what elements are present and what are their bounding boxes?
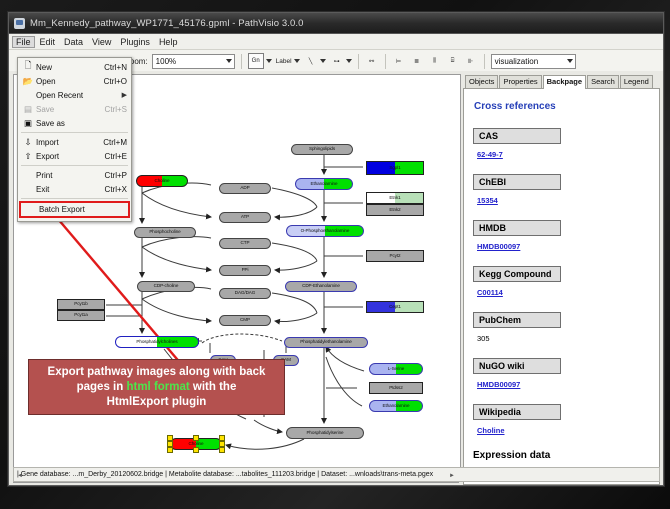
pathway-node-cept1[interactable]: Cept1 <box>366 301 424 313</box>
pathway-node-label: CDP-Ethanolamine <box>302 284 340 289</box>
file-menu-item-label: Save <box>36 105 105 114</box>
window-title: Mm_Kennedy_pathway_WP1771_45176.gpml - P… <box>30 18 304 29</box>
pathway-node-label: Choline <box>189 442 204 447</box>
cross-reference-row: Kegg CompoundC00114 <box>473 264 651 306</box>
toolbar-divider <box>385 54 386 69</box>
application-window: Mm_Kennedy_pathway_WP1771_45176.gpml - P… <box>8 12 664 486</box>
pathway-node-pcyt1a[interactable]: Pcyt1a <box>57 310 105 321</box>
label-tool-text: Label <box>276 58 292 65</box>
cross-reference-row: ChEBI15354 <box>473 172 651 214</box>
pathway-node-ethanolamine-top[interactable]: Ethanolamine <box>295 178 353 190</box>
menu-view[interactable]: View <box>88 36 115 48</box>
callout-line3: HtmlExport plugin <box>107 396 207 408</box>
menu-edit[interactable]: Edit <box>36 36 60 48</box>
pathway-node-phosphatidylserine[interactable]: Phosphatidylserine <box>286 427 364 439</box>
pathway-node-phosphatidylcholines[interactable]: Phosphatidylcholines <box>115 336 199 348</box>
file-menu-item-accelerator: Ctrl+O <box>104 77 131 86</box>
tab-backpage[interactable]: Backpage <box>543 75 586 89</box>
database-link[interactable]: C00114 <box>477 288 503 297</box>
menu-separator <box>21 165 128 166</box>
tab-legend[interactable]: Legend <box>620 75 653 88</box>
selection-handle[interactable] <box>219 447 225 453</box>
callout-line1: Export pathway images along with back <box>48 366 266 378</box>
side-panel-tabs: ObjectsPropertiesBackpageSearchLegend <box>463 74 660 88</box>
file-menu-item-accelerator: Ctrl+N <box>104 63 131 72</box>
callout-line2-pre: pages in <box>77 381 127 393</box>
pathvisio-icon <box>14 18 25 29</box>
database-link[interactable]: Choline <box>477 426 505 435</box>
callout-line2-post: with the <box>190 381 237 393</box>
pathway-node-pcyt1b[interactable]: Pcyt1b <box>57 299 105 310</box>
pathway-node-cdp-ethanolamine[interactable]: CDP-Ethanolamine <box>285 281 357 292</box>
cross-reference-row: NuGO wikiHMDB00097 <box>473 356 651 398</box>
pathway-node-label: Pcyt1a <box>74 313 87 318</box>
line-tool[interactable]: ╲ <box>304 54 326 68</box>
pathway-node-label: Phosphatidylethanolamine <box>300 340 352 345</box>
pathway-node-ptdss2[interactable]: Ptdss2 <box>369 382 423 394</box>
pathway-node-ethanolamine-bottom[interactable]: Ethanolamine <box>369 400 423 412</box>
datanode-tool[interactable]: Gn <box>248 53 272 69</box>
pathway-node-label: ATP <box>241 215 249 220</box>
file-menu-item-export[interactable]: ⇧ExportCtrl+E <box>18 149 131 163</box>
group-icon[interactable]: ⌸ <box>446 54 460 68</box>
pathway-node-label: Sphingolipids <box>309 147 335 152</box>
pathway-node-choline-top[interactable]: Choline <box>136 175 188 187</box>
cross-reference-row: CAS62-49-7 <box>473 126 651 168</box>
database-name: PubChem <box>473 312 561 328</box>
pathway-node-sphingolipids[interactable]: Sphingolipids <box>291 144 353 155</box>
database-link[interactable]: 62-49-7 <box>477 150 503 159</box>
file-menu-item-accelerator: Ctrl+M <box>103 138 131 147</box>
selection-handle[interactable] <box>167 447 173 453</box>
pathway-node-label: Etnk1 <box>389 196 400 201</box>
scroll-right-icon[interactable]: ► <box>446 473 458 479</box>
menu-separator <box>21 198 128 199</box>
title-bar: Mm_Kennedy_pathway_WP1771_45176.gpml - P… <box>9 13 663 34</box>
annotation-callout: Export pathway images along with back pa… <box>28 359 285 415</box>
selection-handle[interactable] <box>167 441 173 447</box>
file-menu-item-accelerator: Ctrl+X <box>105 185 131 194</box>
cross-references-heading: Cross references <box>474 101 651 112</box>
chevron-down-icon <box>567 59 573 63</box>
pathway-node-label: Ptdss2 <box>389 386 402 391</box>
pathway-node-sgpl1[interactable]: Sgpl1 <box>366 161 424 175</box>
chevron-down-icon <box>226 59 232 63</box>
callout-line2-highlight: html format <box>126 381 189 393</box>
selection-handle[interactable] <box>219 441 225 447</box>
pathway-node-label: ADP <box>240 186 249 191</box>
file-menu-item-accelerator: Ctrl+E <box>105 152 131 161</box>
menu-data[interactable]: Data <box>60 36 87 48</box>
pathway-node-label: Ethanolamine <box>311 182 338 187</box>
pathway-node-label: Pcyt2 <box>390 254 401 259</box>
selection-handle[interactable] <box>193 447 199 453</box>
pathway-node-label: Etnk2 <box>389 208 400 213</box>
menu-separator <box>21 132 128 133</box>
pathway-node-etnk1[interactable]: Etnk1 <box>366 192 424 204</box>
save-as-icon: ▣ <box>20 118 36 129</box>
file-menu-item-label: Import <box>36 138 103 147</box>
zoom-combo[interactable]: 100% <box>152 54 235 69</box>
pathway-node-label: DAG/DAG <box>235 291 256 296</box>
cross-reference-row: PubChem305 <box>473 310 651 352</box>
toolbar-divider <box>484 54 485 69</box>
menu-file[interactable]: File <box>12 36 35 48</box>
submenu-arrow-icon: ▶ <box>122 91 131 99</box>
database-link[interactable]: HMDB00097 <box>477 380 520 389</box>
side-panel: ObjectsPropertiesBackpageSearchLegend Cr… <box>461 71 663 485</box>
visualization-combo[interactable]: visualization <box>491 54 576 69</box>
database-name: ChEBI <box>473 174 561 190</box>
cross-reference-row: HMDBHMDB00097 <box>473 218 651 260</box>
file-menu-item-import[interactable]: ⇩ImportCtrl+M <box>18 135 131 149</box>
pathway-node-label: Pcyt1b <box>74 302 87 307</box>
visualization-value: visualization <box>495 57 539 66</box>
pathway-node-label: PPi <box>242 268 249 273</box>
gene-product-icon: Gn <box>248 53 264 69</box>
database-name: CAS <box>473 128 561 144</box>
file-menu-popup[interactable]: 🗋NewCtrl+N📂OpenCtrl+OOpen Recent▶▤SaveCt… <box>17 57 132 222</box>
toolbar-divider <box>358 54 359 69</box>
pathway-node-label: Phosphatidylcholines <box>136 340 177 345</box>
pathway-node-dagdag[interactable]: DAG/DAG <box>219 288 271 299</box>
pathway-node-ctp[interactable]: CTP <box>219 238 271 249</box>
pathway-node-label: CDP-choline <box>154 284 179 289</box>
pathway-node-atp[interactable]: ATP <box>219 212 271 223</box>
pathway-node-label: L-Serine <box>388 367 405 372</box>
file-menu-item-open[interactable]: 📂OpenCtrl+O <box>18 74 131 88</box>
chevron-down-icon[interactable] <box>346 59 352 63</box>
new-document-icon: 🗋 <box>20 60 36 74</box>
chevron-down-icon[interactable] <box>294 59 300 63</box>
toolbar-divider <box>241 54 242 69</box>
status-text: | Gene database: ...m_Derby_20120602.bri… <box>17 471 433 478</box>
pathway-node-cmp[interactable]: CMP <box>219 315 271 326</box>
file-menu-item-save-as[interactable]: ▣Save as <box>18 116 131 130</box>
save-disk-icon: ▤ <box>20 104 36 115</box>
file-menu-item-label: Exit <box>36 185 105 194</box>
pathway-node-label: Phosphatidylserine <box>306 431 343 436</box>
file-menu-item-label: Open Recent <box>36 91 122 100</box>
pathway-node-label: O-Phosphoethanolamine <box>301 229 350 234</box>
file-menu-item-open-recent[interactable]: Open Recent▶ <box>18 88 131 102</box>
export-icon: ⇧ <box>20 151 36 162</box>
distribute-icon[interactable]: ⫼ <box>428 54 442 68</box>
interaction-icon: ⊶ <box>330 54 344 68</box>
pathway-node-label: Cept1 <box>389 305 401 310</box>
file-menu-item-label: Export <box>36 152 105 161</box>
selection-handle[interactable] <box>193 435 199 441</box>
database-link[interactable]: 15354 <box>477 196 498 205</box>
pathway-node-l-serine[interactable]: L-Serine <box>369 363 423 375</box>
tab-objects[interactable]: Objects <box>465 75 498 88</box>
file-menu-item-label: Print <box>36 171 105 180</box>
file-menu-item-label: Batch Export <box>39 205 124 214</box>
pathway-node-cdp-choline[interactable]: CDP-choline <box>137 281 195 292</box>
file-menu-item-label: Save as <box>36 119 127 128</box>
database-link[interactable]: HMDB00097 <box>477 242 520 251</box>
import-icon: ⇩ <box>20 137 36 148</box>
interaction-tool[interactable]: ⊶ <box>330 54 352 68</box>
folder-open-icon: 📂 <box>20 76 36 87</box>
anchor-icon[interactable]: ⚯ <box>365 54 379 68</box>
chevron-down-icon[interactable] <box>266 59 272 63</box>
chevron-down-icon[interactable] <box>320 59 326 63</box>
cross-reference-row: WikipediaCholine <box>473 402 651 444</box>
tab-properties[interactable]: Properties <box>499 75 541 88</box>
file-menu-item-exit[interactable]: ExitCtrl+X <box>18 182 131 196</box>
file-menu-item-accelerator: Ctrl+P <box>105 171 131 180</box>
line-icon: ╲ <box>304 54 318 68</box>
expression-data-heading: Expression data <box>473 450 651 461</box>
pathway-node-label: Ethanolamine <box>383 404 410 409</box>
tab-search[interactable]: Search <box>587 75 619 88</box>
pathway-node-adp[interactable]: ADP <box>219 183 271 194</box>
database-value: 305 <box>477 334 490 343</box>
menu-bar: File Edit Data View Plugins Help <box>9 34 663 50</box>
zoom-value: 100% <box>156 57 176 66</box>
pathway-node-o-phosphoethanolamine[interactable]: O-Phosphoethanolamine <box>286 225 364 237</box>
menu-plugins[interactable]: Plugins <box>116 36 154 48</box>
database-name: NuGO wiki <box>473 358 561 374</box>
status-bar: | Gene database: ...m_Derby_20120602.bri… <box>13 467 660 482</box>
pathway-node-label: Phosphocholine <box>149 230 180 235</box>
file-menu-item-accelerator: Ctrl+S <box>105 105 131 114</box>
file-menu-item-batch-export[interactable]: Batch Export <box>19 201 130 218</box>
pathway-node-ppi[interactable]: PPi <box>219 265 271 276</box>
database-name: Kegg Compound <box>473 266 561 282</box>
align-left-icon[interactable]: ⊨ <box>392 54 406 68</box>
scroll-left-icon[interactable]: ◄ <box>14 473 26 479</box>
file-menu-item-label: Open <box>36 77 104 86</box>
file-menu-item-print[interactable]: PrintCtrl+P <box>18 168 131 182</box>
file-menu-item-label: New <box>36 63 104 72</box>
file-menu-item-new[interactable]: 🗋NewCtrl+N <box>18 60 131 74</box>
pathway-node-label: CMP <box>240 318 250 323</box>
order-icon[interactable]: ⊪ <box>464 54 478 68</box>
database-name: HMDB <box>473 220 561 236</box>
file-menu-item-save: ▤SaveCtrl+S <box>18 102 131 116</box>
pathway-node-phosphocholine[interactable]: Phosphocholine <box>134 227 196 238</box>
label-tool[interactable]: Label <box>276 58 300 65</box>
align-stack-icon[interactable]: ≣ <box>410 54 424 68</box>
cross-reference-list: CAS62-49-7ChEBI15354HMDBHMDB00097Kegg Co… <box>473 126 651 444</box>
pathway-node-label: CTP <box>241 241 250 246</box>
pathway-node-pcyt2[interactable]: Pcyt2 <box>366 250 424 262</box>
database-name: Wikipedia <box>473 404 561 420</box>
screenshot-root: Mm_Kennedy_pathway_WP1771_45176.gpml - P… <box>0 0 670 509</box>
menu-help[interactable]: Help <box>155 36 182 48</box>
pathway-node-etnk2[interactable]: Etnk2 <box>366 204 424 216</box>
backpage-panel: Cross references CAS62-49-7ChEBI15354HMD… <box>463 88 660 485</box>
pathway-node-label: Sgpl1 <box>389 166 400 171</box>
pathway-node-phosphatidylethanolamine[interactable]: Phosphatidylethanolamine <box>284 337 368 348</box>
pathway-node-label: Choline <box>155 179 170 184</box>
